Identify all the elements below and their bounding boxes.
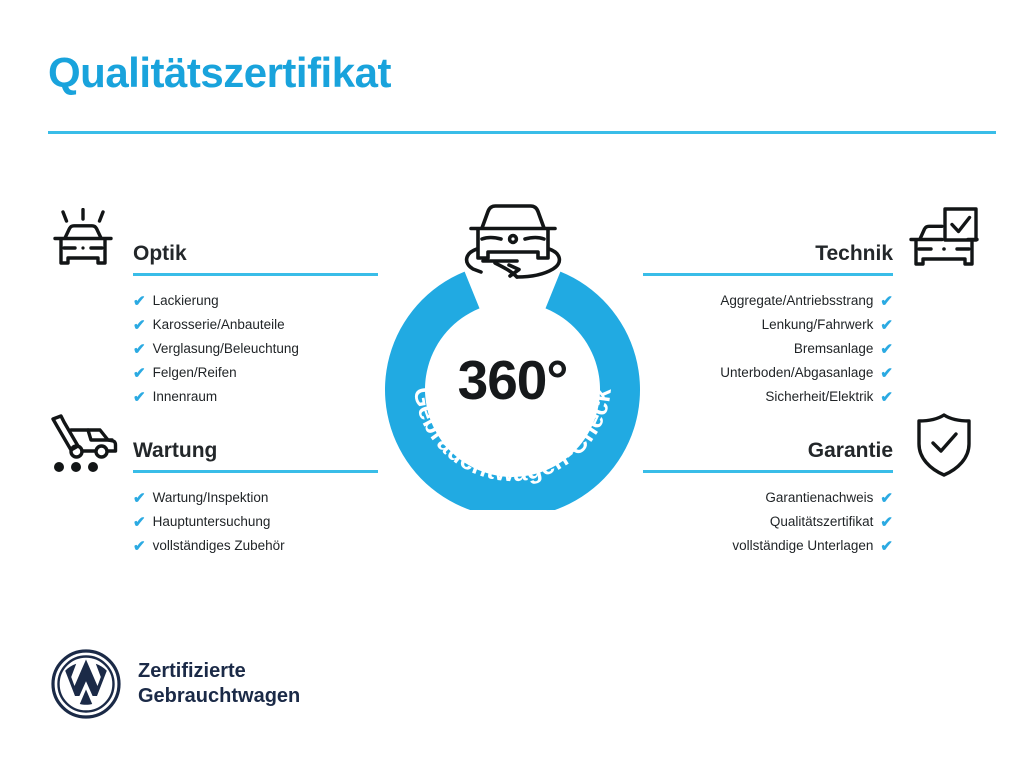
section-title-optik: Optik [133, 240, 378, 268]
list-item-label: vollständige Unterlagen [732, 534, 873, 558]
check-icon: ✔ [880, 366, 893, 381]
car-front-checkbox-icon [908, 206, 980, 277]
section-wartung: Wartung ✔Wartung/Inspektion ✔Hauptunters… [133, 437, 378, 558]
check-icon: ✔ [880, 318, 893, 333]
section-header-optik: Optik [133, 240, 378, 276]
car-service-dipstick-icon [48, 413, 118, 480]
vw-certified-logo: Zertifizierte Gebrauchtwagen [50, 648, 300, 720]
list-item: ✔Innenraum [133, 385, 378, 409]
vw-logo-icon [50, 648, 122, 720]
section-rule-garantie [643, 470, 893, 473]
vw-logo-line2: Gebrauchtwagen [138, 684, 300, 709]
list-item-label: Innenraum [153, 385, 218, 409]
list-item: Qualitätszertifikat✔ [643, 510, 893, 534]
list-item: ✔Verglasung/Beleuchtung [133, 337, 378, 361]
check-icon: ✔ [880, 539, 893, 554]
list-item-label: Aggregate/Antriebsstrang [720, 289, 873, 313]
vw-logo-text: Zertifizierte Gebrauchtwagen [138, 659, 300, 709]
check-icon: ✔ [133, 318, 146, 333]
list-item: Bremsanlage✔ [643, 337, 893, 361]
list-item: Garantienachweis✔ [643, 486, 893, 510]
list-item: ✔Wartung/Inspektion [133, 486, 378, 510]
list-item: Sicherheit/Elektrik✔ [643, 385, 893, 409]
list-item: ✔vollständiges Zubehör [133, 534, 378, 558]
section-rule-technik [643, 273, 893, 276]
vw-logo-line1: Zertifizierte [138, 659, 300, 684]
section-header-garantie: Garantie [643, 437, 893, 473]
checklist-optik: ✔Lackierung ✔Karosserie/Anbauteile ✔Verg… [133, 289, 378, 409]
list-item-label: Wartung/Inspektion [153, 486, 269, 510]
section-optik: Optik ✔Lackierung ✔Karosserie/Anbauteile… [133, 240, 378, 409]
list-item-label: vollständiges Zubehör [153, 534, 285, 558]
check-icon: ✔ [133, 294, 146, 309]
list-item: Unterboden/Abgasanlage✔ [643, 361, 893, 385]
list-item-label: Sicherheit/Elektrik [765, 385, 873, 409]
section-header-technik: Technik [643, 240, 893, 276]
section-rule-optik [133, 273, 378, 276]
badge-360-gebrauchtwagen-check: Gebrauchtwagen-Check 360° [385, 255, 640, 510]
car-rotate-360-icon [457, 197, 569, 296]
check-icon: ✔ [133, 366, 146, 381]
list-item-label: Lenkung/Fahrwerk [762, 313, 874, 337]
checklist-technik: Aggregate/Antriebsstrang✔ Lenkung/Fahrwe… [643, 289, 893, 409]
list-item-label: Bremsanlage [794, 337, 874, 361]
check-icon: ✔ [133, 342, 146, 357]
section-header-wartung: Wartung [133, 437, 378, 473]
check-icon: ✔ [133, 539, 146, 554]
list-item: Lenkung/Fahrwerk✔ [643, 313, 893, 337]
list-item-label: Felgen/Reifen [153, 361, 237, 385]
section-title-technik: Technik [643, 240, 893, 268]
check-icon: ✔ [880, 294, 893, 309]
check-icon: ✔ [880, 390, 893, 405]
section-garantie: Garantie Garantienachweis✔ Qualitätszert… [643, 437, 893, 558]
list-item: ✔Hauptuntersuchung [133, 510, 378, 534]
check-icon: ✔ [133, 515, 146, 530]
checklist-garantie: Garantienachweis✔ Qualitätszertifikat✔ v… [643, 486, 893, 558]
section-title-wartung: Wartung [133, 437, 378, 465]
shield-check-icon [913, 412, 975, 483]
list-item-label: Garantienachweis [765, 486, 873, 510]
list-item-label: Unterboden/Abgasanlage [720, 361, 873, 385]
list-item: ✔Lackierung [133, 289, 378, 313]
list-item-label: Qualitätszertifikat [770, 510, 874, 534]
page-title: Qualitätszertifikat [48, 50, 391, 96]
list-item: ✔Karosserie/Anbauteile [133, 313, 378, 337]
list-item: vollständige Unterlagen✔ [643, 534, 893, 558]
check-icon: ✔ [133, 390, 146, 405]
checklist-wartung: ✔Wartung/Inspektion ✔Hauptuntersuchung ✔… [133, 486, 378, 558]
check-icon: ✔ [133, 491, 146, 506]
section-rule-wartung [133, 470, 378, 473]
check-icon: ✔ [880, 342, 893, 357]
header-divider [48, 131, 996, 134]
check-icon: ✔ [880, 515, 893, 530]
list-item: ✔Felgen/Reifen [133, 361, 378, 385]
list-item: Aggregate/Antriebsstrang✔ [643, 289, 893, 313]
list-item-label: Hauptuntersuchung [153, 510, 271, 534]
section-technik: Technik Aggregate/Antriebsstrang✔ Lenkun… [643, 240, 893, 409]
section-title-garantie: Garantie [643, 437, 893, 465]
list-item-label: Lackierung [153, 289, 219, 313]
list-item-label: Verglasung/Beleuchtung [153, 337, 299, 361]
check-icon: ✔ [880, 491, 893, 506]
list-item-label: Karosserie/Anbauteile [153, 313, 285, 337]
car-front-shine-icon [48, 208, 118, 279]
